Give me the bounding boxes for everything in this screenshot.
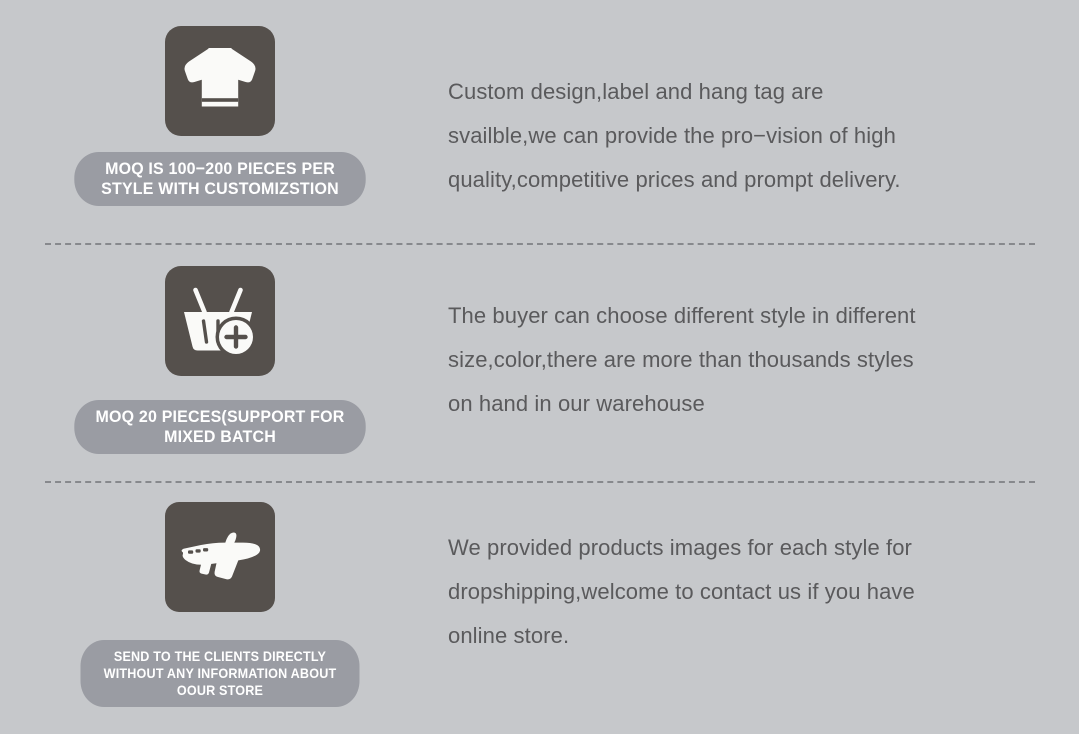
section-divider xyxy=(45,481,1035,483)
feature-icon-column: SEND TO THE CLIENTS DIRECTLY WITHOUT ANY… xyxy=(0,502,440,707)
feature-text-column: The buyer can choose different style in … xyxy=(440,266,1079,426)
airplane-icon-tile xyxy=(165,502,275,612)
shopping-basket-add-icon xyxy=(180,283,260,359)
feature-text-column: We provided products images for each sty… xyxy=(440,502,1079,658)
badge-moq-customization: MOQ IS 100−200 PIECES PER STYLE WITH CUS… xyxy=(74,152,365,206)
feature-text-column: Custom design,label and hang tag are sva… xyxy=(440,26,1079,202)
feature-row: MOQ 20 PIECES(SUPPORT FOR MIXED BATCH Th… xyxy=(0,266,1079,471)
airplane-icon xyxy=(177,525,263,589)
feature-description: Custom design,label and hang tag are sva… xyxy=(448,26,1039,202)
feature-description: We provided products images for each sty… xyxy=(448,502,1039,658)
badge-discreet-shipping: SEND TO THE CLIENTS DIRECTLY WITHOUT ANY… xyxy=(81,640,360,707)
feature-description: The buyer can choose different style in … xyxy=(448,266,1039,426)
feature-icon-column: MOQ IS 100−200 PIECES PER STYLE WITH CUS… xyxy=(0,26,440,206)
badge-moq-mixed-batch: MOQ 20 PIECES(SUPPORT FOR MIXED BATCH xyxy=(74,400,365,454)
feature-row: MOQ IS 100−200 PIECES PER STYLE WITH CUS… xyxy=(0,26,1079,236)
feature-row: SEND TO THE CLIENTS DIRECTLY WITHOUT ANY… xyxy=(0,502,1079,702)
tshirt-icon-tile xyxy=(165,26,275,136)
feature-icon-column: MOQ 20 PIECES(SUPPORT FOR MIXED BATCH xyxy=(0,266,440,454)
section-divider xyxy=(45,243,1035,245)
tshirt-icon xyxy=(181,45,259,117)
shopping-basket-add-icon-tile xyxy=(165,266,275,376)
feature-list-page: MOQ IS 100−200 PIECES PER STYLE WITH CUS… xyxy=(0,0,1079,734)
